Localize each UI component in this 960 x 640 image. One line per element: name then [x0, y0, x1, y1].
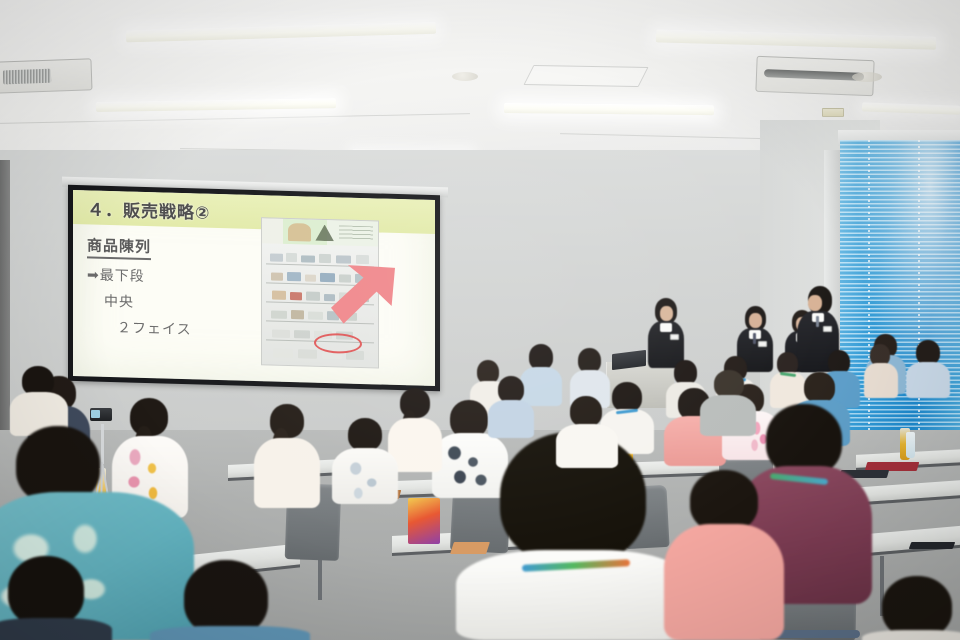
ceiling-light-4 — [504, 103, 714, 115]
camcorder[interactable] — [90, 408, 112, 421]
presentation-slide: ４．販売戦略② 商品陳列 ➡最下段 中央 ２フェイス — [73, 190, 435, 386]
audience-member-back-3 — [864, 344, 898, 398]
ceiling-light-1 — [126, 22, 436, 43]
head — [498, 376, 524, 403]
seminar-room-photograph: ４．販売戦略② 商品陳列 ➡最下段 中央 ２フェイス — [0, 0, 960, 640]
ceiling-speaker-2 — [852, 72, 882, 82]
tote-bag[interactable] — [408, 498, 440, 544]
slide-body: 商品陳列 ➡最下段 中央 ２フェイス — [87, 234, 237, 340]
slide-heading: 商品陳列 — [87, 234, 151, 260]
presenter-name-badge — [670, 334, 679, 340]
pink-arrow-annotation — [331, 255, 395, 337]
presenter-face — [808, 295, 822, 311]
ceiling-access-panel — [523, 65, 648, 87]
slide-line-2: 中央 — [87, 290, 237, 314]
ceiling-light-3 — [656, 29, 936, 49]
audience-member-left-white — [254, 404, 320, 508]
head — [8, 556, 84, 626]
audience-member-back-2 — [906, 340, 950, 398]
ceiling-light-5 — [862, 102, 960, 114]
torso — [906, 362, 950, 398]
presenter-face — [660, 306, 673, 321]
slide-line-3: ２フェイス — [87, 316, 237, 340]
water-bottle[interactable] — [906, 432, 915, 458]
head — [882, 576, 952, 638]
torso — [556, 424, 618, 468]
torso — [150, 626, 310, 640]
audience-member-foreground-right-edge — [862, 576, 960, 640]
presenter-name-badge — [823, 326, 832, 332]
torso — [254, 438, 320, 508]
audience-member-foreground-left-dark — [0, 556, 112, 640]
audience-member-row-white-shirt — [556, 396, 618, 468]
presenter-at-podium — [646, 298, 686, 368]
shelf-signage — [262, 218, 378, 246]
head — [714, 370, 744, 398]
slide-title: ４．販売戦略② — [87, 195, 210, 223]
torso — [864, 363, 898, 398]
audience-member-mid-navy — [488, 376, 534, 438]
presenter-shirt — [660, 323, 672, 332]
floral-pattern — [344, 458, 386, 502]
ceiling-sign — [822, 108, 844, 117]
head — [348, 418, 382, 451]
presenter-name-badge — [758, 341, 767, 347]
torso — [862, 630, 960, 640]
audience-member-row-grey-shirt — [332, 418, 398, 504]
torso — [0, 618, 112, 640]
notebook-5[interactable] — [909, 542, 956, 549]
presenter-face — [749, 313, 762, 328]
head — [570, 396, 602, 427]
audience-member-foreground-salmon — [664, 470, 784, 640]
slide-line-1: ➡最下段 — [87, 264, 237, 288]
torso — [664, 524, 784, 640]
camcorder-lcd-screen — [91, 410, 100, 418]
projection-screen: ４．販売戦略② 商品陳列 ➡最下段 中央 ２フェイス — [68, 185, 440, 391]
wall-left-edge — [0, 160, 10, 450]
slide-title-band: ４．販売戦略② — [73, 190, 435, 234]
presenter-tie — [816, 316, 819, 327]
head — [690, 470, 758, 532]
ac-vent-left — [0, 58, 93, 93]
head — [804, 372, 835, 403]
head — [184, 560, 268, 636]
ceiling-speaker — [452, 72, 478, 81]
presenter-tie — [753, 333, 756, 344]
ceiling-light-2 — [96, 98, 336, 112]
audience-member-foreground-row2-left — [150, 560, 310, 640]
